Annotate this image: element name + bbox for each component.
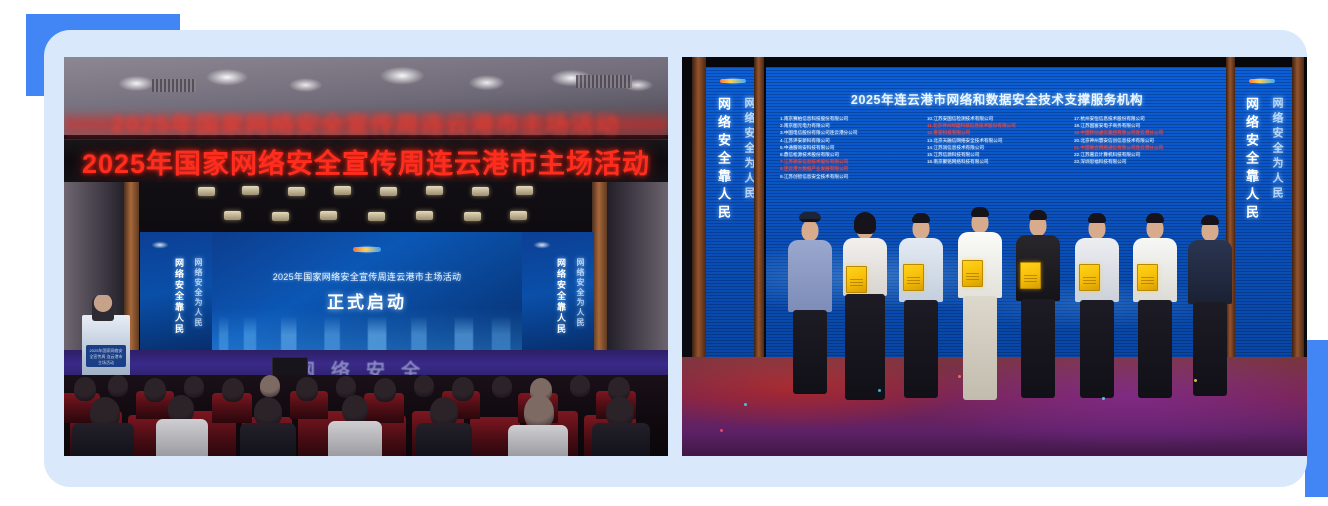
ceiling-vent [576, 75, 632, 88]
side-screen-slogans: 网络安全靠人民 网络安全为人民 [555, 258, 586, 335]
ceiling-vent [152, 79, 196, 92]
photo-auditorium[interactable]: 2025年国家网络安全宣传周连云港市主场活动 2025年国家网络安全宣传周连云港… [64, 57, 668, 456]
lighting-truss [194, 185, 544, 225]
led-banner-text: 2025年国家网络安全宣传周连云港市主场活动 [82, 142, 650, 181]
award-plaque [1137, 264, 1158, 291]
stage-side-screen-right: 网络安全靠人民 网络安全为人民 [522, 232, 594, 350]
person-recipient [1130, 206, 1180, 398]
person-recipient [896, 206, 946, 398]
person-police-officer [786, 208, 834, 394]
wood-column-right [592, 182, 607, 372]
speaker-person [92, 295, 114, 321]
person-recipient [840, 204, 890, 400]
cybersecurity-week-logo-icon [148, 240, 172, 250]
screenshot-canvas: 2025年国家网络安全宣传周连云港市主场活动 2025年国家网络安全宣传周连云港… [0, 0, 1328, 506]
led-banner-reflection: 2025年国家网络安全宣传周连云港市主场活动 [64, 107, 668, 137]
award-plaque [846, 266, 867, 293]
award-plaque [962, 260, 983, 287]
led-banner: 2025年国家网络安全宣传周连云港市主场活动 [64, 139, 668, 184]
slogan-column-primary: 网络安全靠人民 [173, 258, 186, 335]
stage-main-screen: 2025年国家网络安全宣传周连云港市主场活动 正式启动 [212, 232, 522, 350]
person-recipient [1186, 208, 1234, 396]
award-plaque [1079, 264, 1100, 291]
person-recipient [1072, 206, 1122, 398]
photo-award-ceremony[interactable]: 网络安全靠人民 网络安全为人民 2025年连云港市网络和数据安全技术支撑服务机构… [682, 57, 1307, 456]
podium-plate-text: 2025年国家网络安全宣传周 连云港市主场活动 [86, 345, 126, 367]
slogan-column-secondary: 网络安全为人民 [193, 258, 204, 335]
stage-side-screen-left: 网络安全靠人民 网络安全为人民 [140, 232, 212, 350]
recipients-row [682, 57, 1307, 456]
stage-monitor-speaker [272, 357, 308, 377]
person-recipient [1012, 204, 1064, 398]
stage-screen-line2: 正式启动 [212, 288, 522, 313]
skyline-graphic [212, 316, 522, 350]
audience-area [64, 375, 668, 456]
slogan-column-secondary: 网络安全为人民 [575, 258, 586, 335]
person-recipient [954, 202, 1006, 400]
stage-screen-line1: 2025年国家网络安全宣传周连云港市主场活动 [212, 270, 522, 283]
award-plaque [1020, 262, 1041, 289]
accent-bar-bottom-right [1305, 340, 1328, 497]
slogan-column-primary: 网络安全靠人民 [555, 258, 568, 335]
side-screen-slogans: 网络安全靠人民 网络安全为人民 [173, 258, 204, 335]
cybersecurity-week-logo-icon [530, 240, 554, 250]
award-plaque [903, 264, 924, 291]
cybersecurity-week-logo-icon [350, 243, 384, 256]
